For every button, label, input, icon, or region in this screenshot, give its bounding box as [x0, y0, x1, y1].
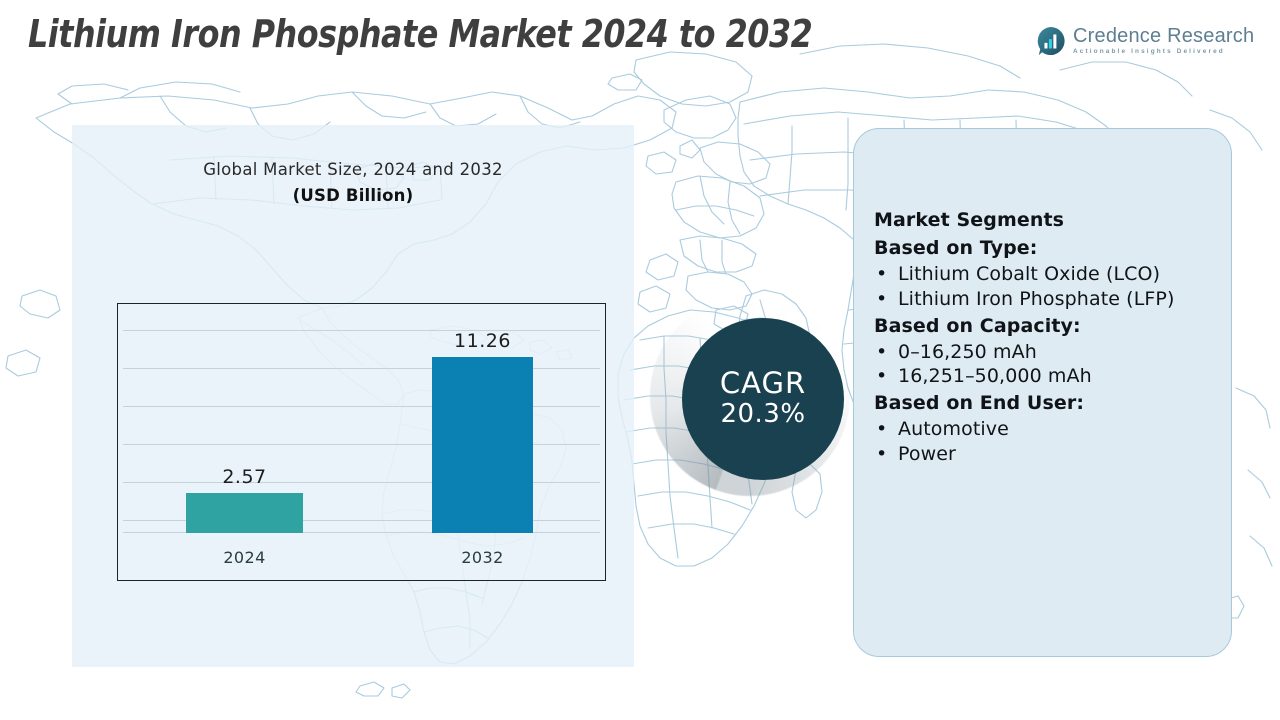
bullet-icon: • — [874, 442, 898, 467]
bullet-icon: • — [874, 287, 898, 312]
list-item: • 16,251–50,000 mAh — [874, 364, 1224, 389]
segment-heading-capacity: Based on Capacity: — [874, 312, 1224, 340]
bar-chart-circle-icon — [1036, 26, 1066, 56]
cagr-value: 20.3% — [720, 400, 805, 430]
category-label-2032: 2032 — [432, 548, 533, 567]
logo-text-block: Credence Research Actionable Insights De… — [1073, 26, 1254, 55]
bar-2032 — [432, 357, 533, 533]
category-label-2024: 2024 — [186, 548, 303, 567]
bullet-icon: • — [874, 364, 898, 389]
bar-value-2032: 11.26 — [432, 330, 533, 352]
chart-heading: Global Market Size, 2024 and 2032 (USD B… — [72, 160, 634, 205]
segment-item-label: Power — [898, 442, 1224, 467]
segment-item-label: 0–16,250 mAh — [898, 340, 1224, 365]
segment-heading-type: Based on Type: — [874, 234, 1224, 262]
bar-2024 — [186, 493, 303, 533]
bar-chart: 2.57 11.26 2024 2032 — [117, 303, 606, 581]
segments-title: Market Segments — [874, 206, 1224, 234]
cagr-circle: CAGR 20.3% — [682, 318, 844, 480]
cagr-badge: CAGR 20.3% — [650, 296, 860, 506]
segment-item-label: 16,251–50,000 mAh — [898, 364, 1224, 389]
list-item: • 0–16,250 mAh — [874, 340, 1224, 365]
logo-name: Credence Research — [1073, 26, 1254, 46]
cagr-label: CAGR — [720, 368, 806, 398]
list-item: • Power — [874, 442, 1224, 467]
bullet-icon: • — [874, 417, 898, 442]
chart-heading-line1: Global Market Size, 2024 and 2032 — [72, 160, 634, 179]
chart-plot-area: 2.57 11.26 2024 2032 — [118, 304, 605, 580]
bullet-icon: • — [874, 262, 898, 287]
page-title: Lithium Iron Phosphate Market 2024 to 20… — [28, 12, 812, 56]
logo-tagline: Actionable Insights Delivered — [1073, 49, 1254, 55]
list-item: • Lithium Cobalt Oxide (LCO) — [874, 262, 1224, 287]
list-item: • Automotive — [874, 417, 1224, 442]
bar-value-2024: 2.57 — [186, 466, 303, 488]
list-item: • Lithium Iron Phosphate (LFP) — [874, 287, 1224, 312]
segment-item-label: Automotive — [898, 417, 1224, 442]
chart-heading-line2: (USD Billion) — [72, 186, 634, 205]
segment-heading-end-user: Based on End User: — [874, 389, 1224, 417]
market-segments-content: Market Segments Based on Type: • Lithium… — [874, 206, 1224, 467]
infographic-slide: Lithium Iron Phosphate Market 2024 to 20… — [0, 0, 1280, 720]
bullet-icon: • — [874, 340, 898, 365]
brand-logo: Credence Research Actionable Insights De… — [1036, 26, 1254, 56]
segment-item-label: Lithium Cobalt Oxide (LCO) — [898, 262, 1224, 287]
segment-item-label: Lithium Iron Phosphate (LFP) — [898, 287, 1224, 312]
